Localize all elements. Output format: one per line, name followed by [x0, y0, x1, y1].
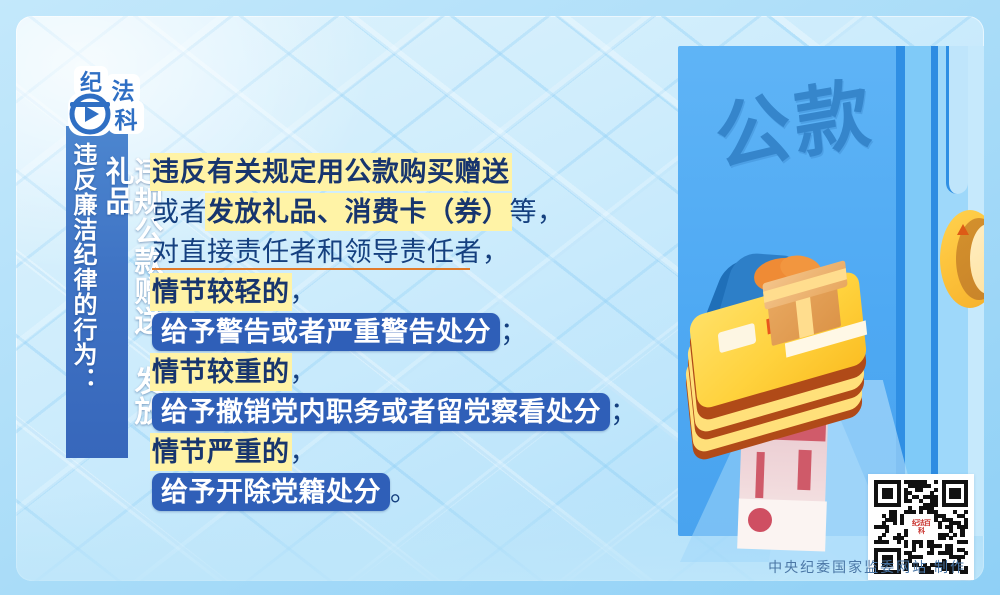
logo-bar-bai — [70, 102, 110, 107]
vault-dial-marker-icon — [957, 224, 969, 235]
body-line-6: 情节较重的， — [152, 352, 622, 392]
body-line-8-text: 情节严重的 — [152, 435, 290, 469]
body-line-3-underline — [152, 268, 470, 270]
body-line-4: 情节较轻的， — [152, 272, 622, 312]
body-line-6-text: 情节较重的 — [152, 355, 290, 389]
cash-strip-right — [797, 450, 811, 490]
body-line-7-trail: ； — [610, 395, 638, 429]
body-line-2: 或者发放礼品、消费卡（券）等， — [152, 192, 622, 232]
body-line-8-trail: ， — [290, 435, 318, 469]
body-line-5-text: 给予警告或者严重警告处分 — [152, 313, 500, 351]
body-line-2-text: 发放礼品、消费卡（券） — [207, 195, 510, 229]
body-line-4-trail: ， — [290, 275, 318, 309]
body-line-7: 给予撤销党内职务或者留党察看处分； — [152, 392, 622, 432]
brand-logo-icon: 纪 法 科 — [66, 64, 152, 140]
body-line-3-text: 对直接责任者和领导责任者， — [152, 235, 510, 269]
body-line-9-text: 给予开除党籍处分 — [152, 473, 390, 511]
body-line-8: 情节严重的， — [152, 432, 622, 472]
qr-code-center-logo-text: 纪法百科 — [910, 516, 932, 538]
vertical-title-left: 违反廉洁纪律的行为： — [70, 142, 94, 442]
vault-band-b — [931, 46, 938, 536]
cash-strip-left — [755, 452, 765, 498]
poster-root: 公款 — [0, 0, 1000, 595]
body-line-9: 给予开除党籍处分。 — [152, 472, 622, 512]
body-line-7-text: 给予撤销党内职务或者留党察看处分 — [152, 393, 610, 431]
logo-char-ji: 纪 — [80, 70, 102, 95]
logo-char-fa: 法 — [112, 79, 135, 104]
cash-seal-dot — [748, 508, 772, 532]
body-text-block: 违反有关规定用公款购买赠送 或者发放礼品、消费卡（券）等， 对直接责任者和领导责… — [152, 152, 622, 512]
inner-card: 公款 — [16, 16, 984, 581]
vault-door-slot — [946, 46, 968, 194]
body-line-2-lead: 或者 — [152, 195, 207, 229]
body-line-5: 给予警告或者严重警告处分； — [152, 312, 622, 352]
body-line-1: 违反有关规定用公款购买赠送 — [152, 152, 622, 192]
body-line-9-trail: 。 — [390, 475, 418, 509]
body-line-4-text: 情节较轻的 — [152, 275, 290, 309]
credit-line: 中央纪委国家监委网站 制作 — [768, 557, 966, 577]
logo-char-ke: 科 — [115, 108, 138, 133]
body-line-3: 对直接责任者和领导责任者， — [152, 232, 622, 272]
body-line-6-trail: ， — [290, 355, 318, 389]
body-line-1-text: 违反有关规定用公款购买赠送 — [152, 155, 510, 189]
body-line-2-trail: 等， — [510, 195, 565, 229]
body-line-5-trail: ； — [500, 315, 528, 349]
vault-band-a — [905, 46, 931, 536]
brand-logo[interactable]: 纪 法 科 — [66, 64, 152, 140]
qr-code-center-logo: 纪法百科 — [908, 514, 934, 540]
